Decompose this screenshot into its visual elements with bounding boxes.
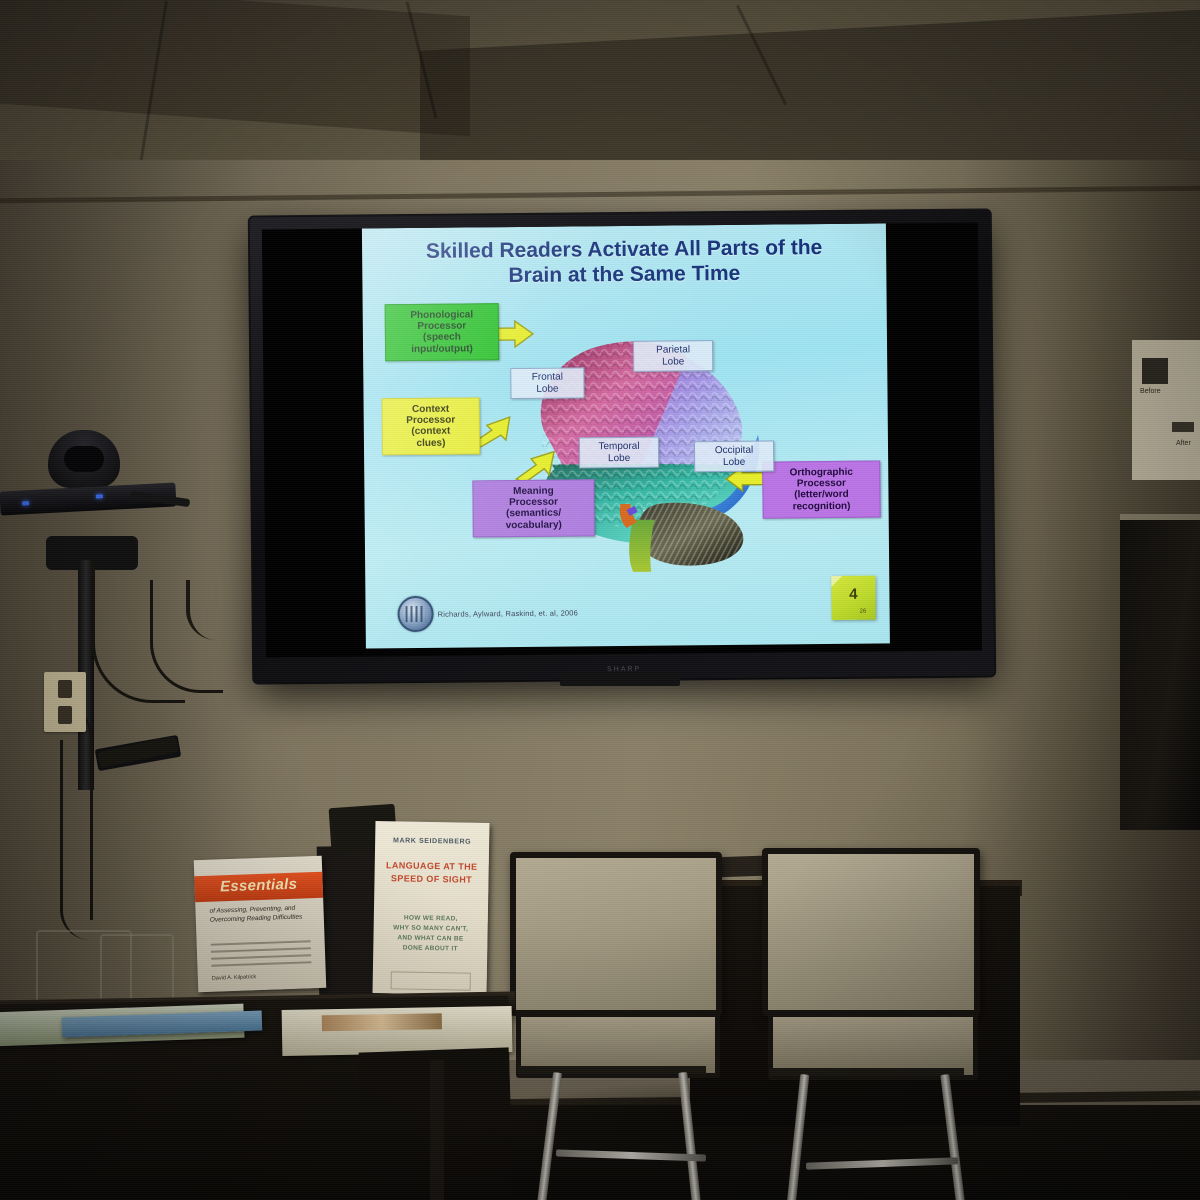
book-language-speed-of-sight[interactable]: MARK SEIDENBERG LANGUAGE AT THE SPEED OF… — [373, 821, 490, 995]
book-essentials-subtitle: of Assessing, Preventing, and Overcoming… — [209, 904, 314, 925]
table-leg — [430, 1060, 444, 1200]
camera-led-indicator — [96, 494, 103, 498]
poster-caption-after: After — [1176, 440, 1191, 447]
chair-backrest — [762, 848, 980, 1016]
poster-image-before — [1142, 358, 1168, 384]
book-page-image — [322, 1013, 442, 1031]
poster-caption-before: Before — [1140, 388, 1161, 395]
book-essentials[interactable]: Essentials of Assessing, Preventing, and… — [194, 856, 327, 992]
wall-mounted-tv[interactable]: Skilled Readers Activate All Parts of th… — [250, 210, 994, 682]
wire-file-rack — [100, 934, 174, 1002]
book-lang-title-line2: SPEED OF SIGHT — [374, 872, 488, 887]
poster-image-after — [1172, 422, 1194, 432]
video-conference-camera[interactable] — [48, 430, 120, 488]
wall-poster-before-after: Before After — [1132, 340, 1200, 480]
book-lang-cover-box — [391, 971, 471, 990]
book-essentials-author: David A. Kilpatrick — [212, 974, 257, 982]
book-lang-author: MARK SEIDENBERG — [375, 837, 489, 846]
tv-wall-mount — [560, 672, 680, 686]
chair-backrest — [510, 852, 722, 1016]
dark-cabinet — [1120, 520, 1200, 830]
camera-led-indicator — [22, 501, 29, 505]
book-lang-title: LANGUAGE AT THE SPEED OF SIGHT — [374, 859, 488, 886]
book-cover-text-lines — [211, 940, 312, 971]
outlet-socket-lower — [58, 706, 72, 724]
classroom-scene: Skilled Readers Activate All Parts of th… — [0, 0, 1200, 1200]
book-lang-subtitle: HOW WE READ, WHY SO MANY CAN'T, AND WHAT… — [373, 913, 488, 955]
camera-lens-icon — [64, 446, 104, 472]
wall-cable — [60, 740, 103, 940]
presentation-slide: Skilled Readers Activate All Parts of th… — [362, 223, 890, 648]
wall-power-outlet — [44, 672, 86, 732]
tv-screen[interactable]: Skilled Readers Activate All Parts of th… — [262, 223, 982, 658]
book-lang-sub-line4: DONE ABOUT IT — [373, 943, 487, 955]
chair-seat-rail — [770, 1068, 964, 1076]
screen-glare — [362, 223, 890, 648]
outlet-socket-upper — [58, 680, 72, 698]
